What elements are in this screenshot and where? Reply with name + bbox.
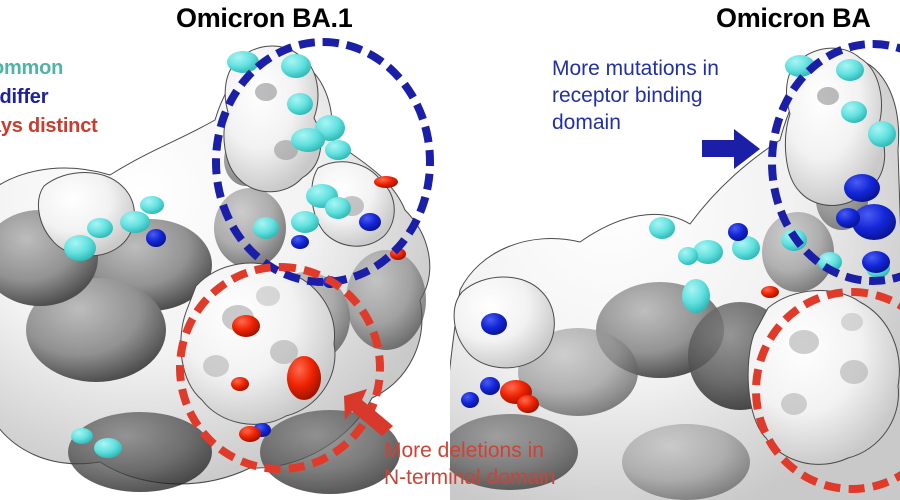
panel-title-ba2: Omicron BA [716,2,871,34]
legend-item-mutations-that-differ: ns that differ [0,83,210,112]
annotation-n-terminal-domain: More deletions in N-terminal domain [384,437,674,491]
legend: ns in common ns that differ ns always di… [0,54,210,141]
panel-title-ba1: Omicron BA.1 [176,2,352,34]
annotation-receptor-binding-domain: More mutations in receptor binding domai… [552,55,777,136]
legend-item-regions-always-distinct: ns always distinct [0,112,210,141]
figure-root: Omicron BA.1 Omicron BA ns in common ns … [0,0,900,500]
n-terminal-domain-right [748,291,899,465]
n-terminal-domain-left [181,263,335,424]
legend-item-mutations-in-common: ns in common [0,54,210,83]
